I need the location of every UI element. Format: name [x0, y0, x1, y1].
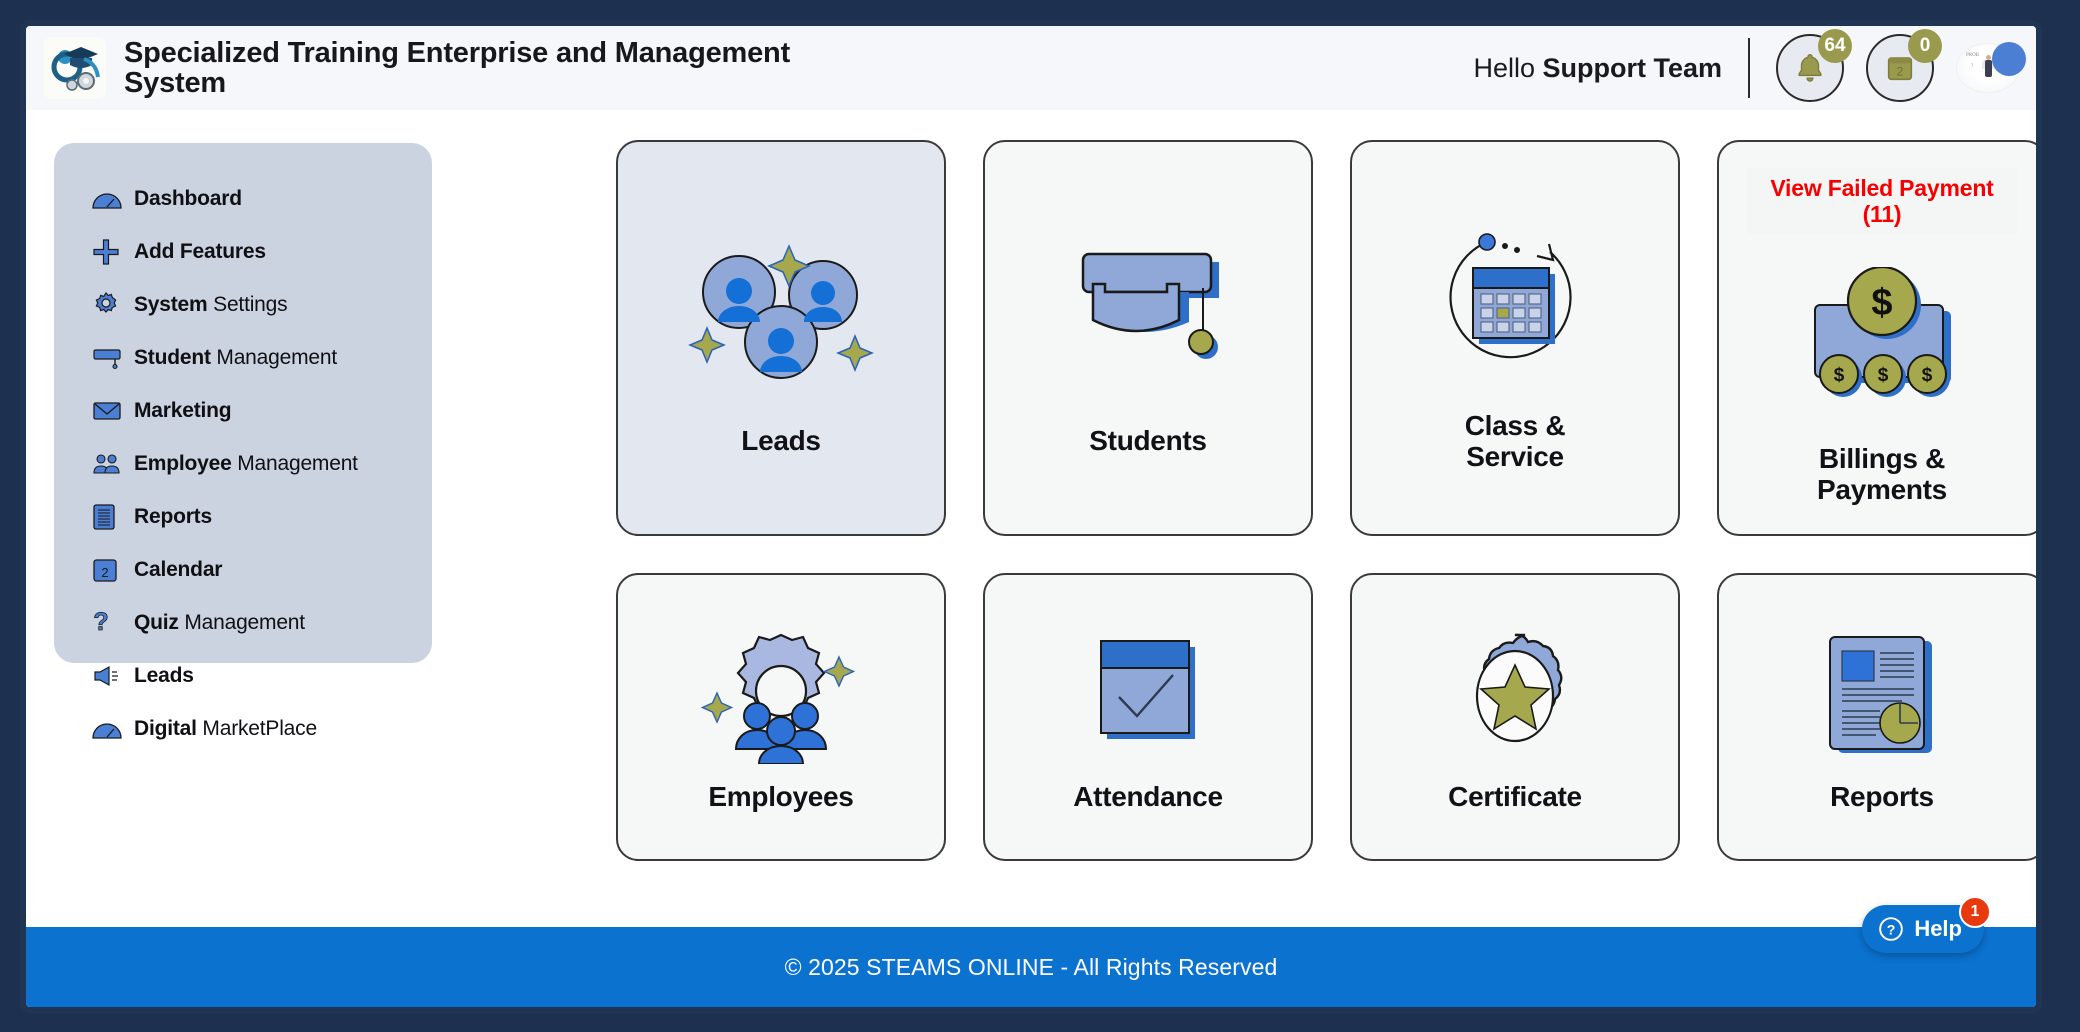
sidebar-item-label: Digital MarketPlace: [134, 717, 317, 741]
greeting-username: Support Team: [1542, 53, 1722, 83]
sidebar-item-label: Marketing: [134, 399, 231, 423]
sidebar-item-digital-marketplace[interactable]: Digital MarketPlace: [54, 709, 432, 749]
graduation-gear-logo-icon: [48, 41, 102, 95]
view-failed-payment-banner[interactable]: View Failed Payment(11): [1747, 168, 2017, 234]
sidebar-item-label: Employee Management: [134, 452, 358, 476]
rosette-star-icon: [1448, 621, 1583, 771]
card-billings-payments[interactable]: View Failed Payment(11) $: [1717, 140, 2042, 536]
sidebar-item-label: System Settings: [134, 293, 287, 317]
sidebar-item-label: Calendar: [134, 558, 222, 582]
app-body: Dashboard Add Features System Settings S…: [26, 110, 2036, 927]
card-title: Employees: [708, 781, 853, 812]
sidebar-item-label: Reports: [134, 505, 212, 529]
card-employees[interactable]: Employees: [616, 573, 946, 861]
copyright-text: © 2025 STEAMS ONLINE - All Rights Reserv…: [785, 954, 1278, 981]
help-button[interactable]: ? Help 1: [1862, 905, 1984, 953]
sidebar-item-label: Quiz Management: [134, 611, 305, 635]
sidebar-item-employee-management[interactable]: Employee Management: [54, 444, 432, 484]
help-label: Help: [1914, 916, 1962, 942]
status-indicator: [1992, 42, 2026, 76]
svg-text:$: $: [1922, 365, 1933, 386]
sidebar-item-student-management[interactable]: Student Management: [54, 338, 432, 378]
svg-text:2: 2: [1897, 64, 1904, 78]
card-attendance[interactable]: Attendance: [983, 573, 1313, 861]
sidebar-item-system-settings[interactable]: System Settings: [54, 285, 432, 325]
card-students[interactable]: Students: [983, 140, 1313, 536]
card-title: Leads: [741, 425, 820, 456]
envelope-icon: [92, 400, 134, 422]
card-leads[interactable]: Leads: [616, 140, 946, 536]
notifications-badge: 64: [1818, 29, 1852, 63]
dashboard-gauge-icon: [92, 188, 134, 210]
svg-text:?: ?: [1887, 921, 1896, 937]
report-page-icon: [1822, 621, 1942, 771]
header-actions: Hello Support Team 64 2 0 PRO: [1473, 34, 2020, 102]
sidebar: Dashboard Add Features System Settings S…: [54, 143, 432, 663]
card-reports[interactable]: Reports: [1717, 573, 2042, 861]
sidebar-item-reports[interactable]: Reports: [54, 497, 432, 537]
header-divider: [1748, 38, 1750, 98]
graduation-cap-icon: [1051, 219, 1246, 419]
svg-text:$: $: [1834, 365, 1845, 386]
svg-text:?: ?: [93, 608, 108, 636]
module-card-grid: Leads Students: [616, 140, 2042, 861]
greeting: Hello Support Team: [1473, 53, 1722, 84]
card-class-service[interactable]: Class & Service: [1350, 140, 1680, 536]
calendar-alerts-button[interactable]: 2 0: [1866, 34, 1934, 102]
svg-text:2: 2: [101, 565, 108, 580]
app-footer: © 2025 STEAMS ONLINE - All Rights Reserv…: [26, 927, 2036, 1007]
card-title: Attendance: [1073, 781, 1222, 812]
failed-payment-label: View Failed Payment(11): [1770, 175, 1993, 228]
sidebar-item-calendar[interactable]: 2 Calendar: [54, 550, 432, 590]
calendar-check-icon: [1083, 621, 1213, 771]
app-header: Specialized Training Enterprise and Mana…: [26, 26, 2036, 110]
gear-people-icon: [701, 621, 861, 771]
card-title: Certificate: [1448, 781, 1582, 812]
sidebar-item-leads[interactable]: Leads: [54, 656, 432, 696]
sidebar-item-label: Add Features: [134, 240, 266, 264]
sidebar-item-label: Dashboard: [134, 187, 242, 211]
desk-icon: [92, 346, 134, 370]
notifications-button[interactable]: 64: [1776, 34, 1844, 102]
people-icon: [92, 452, 134, 476]
calendar-icon: 2: [92, 557, 134, 583]
card-title: Students: [1089, 425, 1206, 456]
card-title: Reports: [1830, 781, 1934, 812]
svg-text:$: $: [1871, 282, 1892, 324]
money-coins-icon: $ $$$: [1787, 237, 1977, 437]
dashboard-gauge-icon: [92, 718, 134, 740]
three-user-circles-icon: [681, 219, 881, 419]
calendar-refresh-icon: [1425, 204, 1605, 404]
calendar-alerts-badge: 0: [1908, 29, 1942, 63]
document-icon: [92, 503, 134, 531]
app-frame: Specialized Training Enterprise and Mana…: [20, 20, 2042, 1013]
sidebar-item-label: Leads: [134, 664, 194, 688]
sidebar-item-dashboard[interactable]: Dashboard: [54, 179, 432, 219]
app-logo[interactable]: [44, 37, 106, 99]
avatar[interactable]: PROB COMP ? ?: [1956, 42, 2020, 94]
plus-icon: [92, 238, 134, 266]
page-title: Specialized Training Enterprise and Mana…: [124, 38, 824, 98]
help-badge: 1: [1959, 896, 1991, 928]
svg-text:$: $: [1878, 365, 1889, 386]
sidebar-item-add-features[interactable]: Add Features: [54, 232, 432, 272]
card-title: Class & Service: [1465, 410, 1566, 473]
sidebar-item-quiz-management[interactable]: ? Quiz Management: [54, 603, 432, 643]
question-circle-icon: ?: [1878, 916, 1904, 942]
card-title: Billings & Payments: [1817, 443, 1947, 506]
question-mark-icon: ?: [92, 608, 134, 638]
avatar-caption-1: PROB: [1966, 53, 1979, 58]
megaphone-icon: [92, 664, 134, 688]
gear-icon: [92, 291, 134, 319]
greeting-prefix: Hello: [1473, 53, 1542, 83]
sidebar-item-marketing[interactable]: Marketing: [54, 391, 432, 431]
card-certificate[interactable]: Certificate: [1350, 573, 1680, 861]
sidebar-item-label: Student Management: [134, 346, 337, 370]
